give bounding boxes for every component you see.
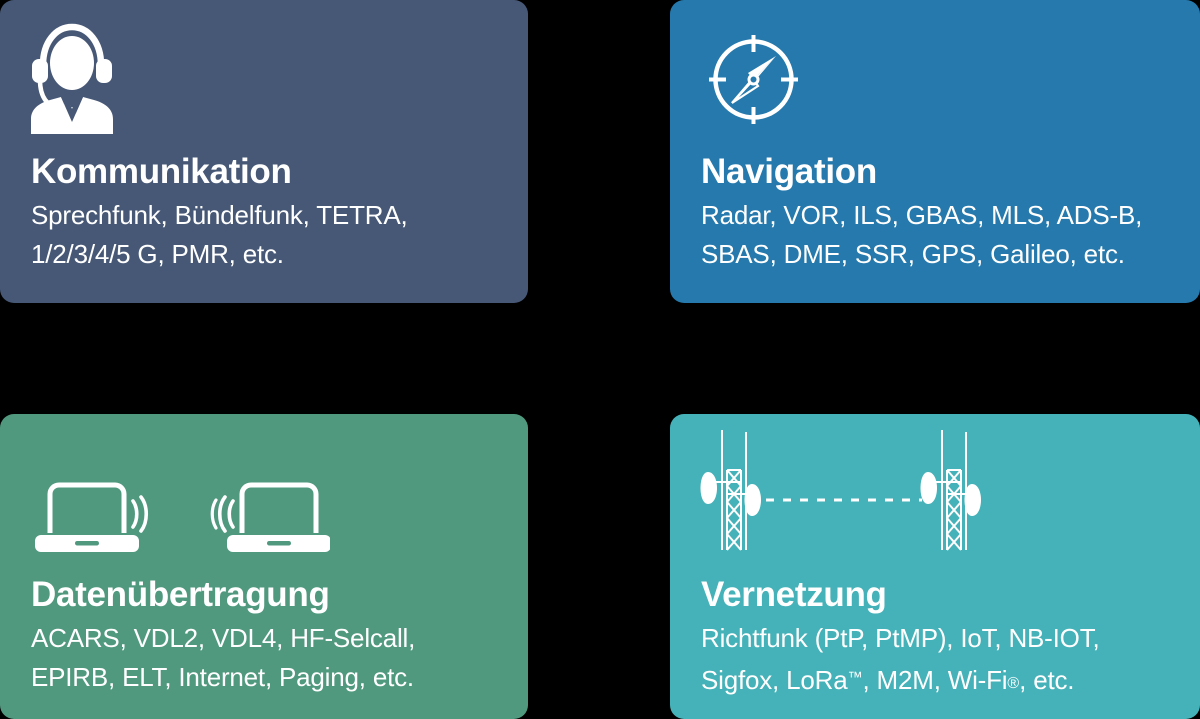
card-description: Richtfunk (PtP, PtMP), IoT, NB-IOT, Sigf… — [701, 619, 1186, 703]
card-text-block: Datenübertragung ACARS, VDL2, VDL4, HF-S… — [31, 575, 514, 697]
card-desc-line-2-pre: Sigfox, LoRa — [701, 665, 847, 695]
card-desc-line-2: SBAS, DME, SSR, GPS, Galileo, etc. — [701, 239, 1125, 269]
compass-icon — [706, 32, 801, 132]
card-title: Kommunikation — [31, 152, 514, 192]
card-description: Sprechfunk, Bündelfunk, TETRA, 1/2/3/4/5… — [31, 196, 514, 274]
card-datenuebertragung[interactable]: Datenübertragung ACARS, VDL2, VDL4, HF-S… — [0, 414, 528, 719]
card-desc-line-2-mid: , M2M, Wi-Fi — [862, 665, 1007, 695]
feature-card-grid: Kommunikation Sprechfunk, Bündelfunk, TE… — [0, 0, 1200, 719]
card-desc-line-2: 1/2/3/4/5 G, PMR, etc. — [31, 239, 284, 269]
card-text-block: Kommunikation Sprechfunk, Bündelfunk, TE… — [31, 152, 514, 274]
card-desc-line-2-post: , etc. — [1019, 665, 1074, 695]
card-title: Navigation — [701, 152, 1186, 192]
card-desc-line-1: Radar, VOR, ILS, GBAS, MLS, ADS-B, — [701, 200, 1142, 230]
card-kommunikation[interactable]: Kommunikation Sprechfunk, Bündelfunk, TE… — [0, 0, 528, 303]
card-text-block: Navigation Radar, VOR, ILS, GBAS, MLS, A… — [701, 152, 1186, 274]
card-text-block: Vernetzung Richtfunk (PtP, PtMP), IoT, N… — [701, 575, 1186, 703]
card-desc-line-1: Richtfunk (PtP, PtMP), IoT, NB-IOT, — [701, 623, 1100, 653]
headset-operator-icon — [26, 18, 118, 139]
card-desc-line-1: ACARS, VDL2, VDL4, HF-Selcall, — [31, 623, 415, 653]
card-desc-line-2: EPIRB, ELT, Internet, Paging, etc. — [31, 662, 414, 692]
card-description: Radar, VOR, ILS, GBAS, MLS, ADS-B, SBAS,… — [701, 196, 1186, 274]
card-title: Vernetzung — [701, 575, 1186, 615]
card-title: Datenübertragung — [31, 575, 514, 615]
registered-symbol: ® — [1007, 675, 1019, 692]
card-desc-line-1: Sprechfunk, Bündelfunk, TETRA, — [31, 200, 408, 230]
trademark-symbol: ™ — [847, 669, 862, 686]
card-navigation[interactable]: Navigation Radar, VOR, ILS, GBAS, MLS, A… — [670, 0, 1200, 303]
wireless-laptops-icon — [30, 476, 330, 571]
radio-link-towers-icon — [694, 422, 994, 572]
card-description: ACARS, VDL2, VDL4, HF-Selcall, EPIRB, EL… — [31, 619, 514, 697]
card-vernetzung[interactable]: Vernetzung Richtfunk (PtP, PtMP), IoT, N… — [670, 414, 1200, 719]
